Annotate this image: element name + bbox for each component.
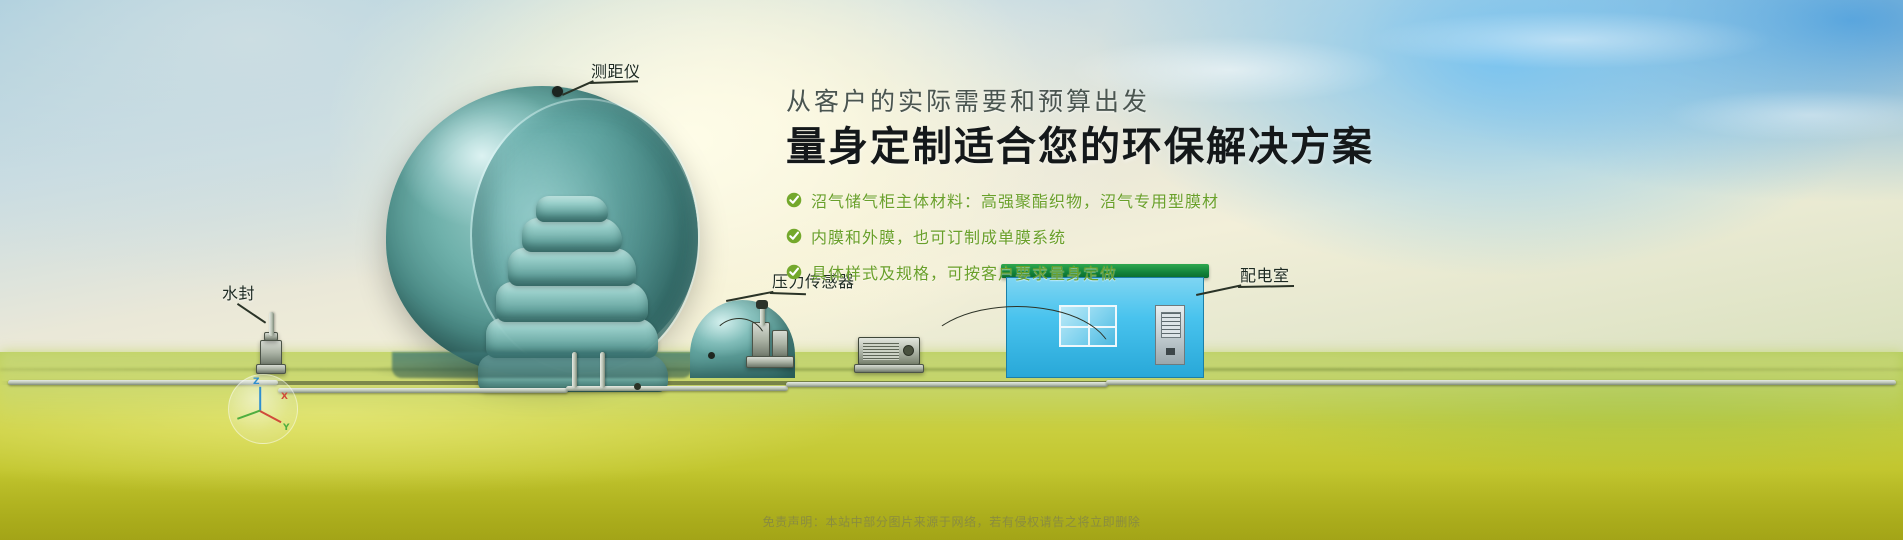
biogas-dome — [386, 86, 698, 376]
pipe-riser — [572, 352, 577, 388]
water-seal-riser — [269, 312, 274, 336]
membrane-tier — [508, 248, 636, 286]
sensor-riser — [760, 306, 765, 326]
list-item: 沼气储气柜主体材料：高强聚酯织物，沼气专用型膜材 — [786, 188, 1526, 212]
compressor-base — [854, 364, 924, 373]
main-pipe — [786, 382, 1108, 387]
membrane-tier — [522, 218, 622, 252]
main-pipe — [278, 388, 568, 393]
axis-label-z: Z — [253, 377, 260, 387]
compressor-unit — [858, 337, 920, 365]
cable-node — [708, 352, 715, 359]
sensor-head — [756, 300, 768, 309]
hero-banner: 测距仪 水封 压力传感器 — [0, 0, 1903, 540]
check-circle-icon — [786, 264, 802, 280]
pressure-sensor-base — [746, 356, 794, 368]
panel-display — [1166, 348, 1175, 355]
compressor-knob — [903, 345, 914, 356]
label-rangefinder: 测距仪 — [591, 58, 641, 82]
axis-x — [260, 410, 282, 423]
pressure-sensor-unit — [772, 330, 788, 358]
panel-grille — [1161, 312, 1181, 338]
rangefinder-device — [552, 86, 563, 97]
list-item: 具体样式及规格，可按客户要求量身定做 — [786, 260, 1526, 284]
check-circle-icon — [786, 192, 802, 208]
list-item-label: 具体样式及规格，可按客户要求量身定做 — [811, 260, 1117, 284]
main-pipe — [1106, 380, 1896, 385]
list-item-label: 内膜和外膜，也可订制成单膜系统 — [811, 224, 1066, 248]
pipe-riser — [600, 352, 605, 388]
membrane-tier — [496, 282, 648, 322]
list-item-label: 沼气储气柜主体材料：高强聚酯织物，沼气专用型膜材 — [811, 188, 1219, 212]
water-seal-unit — [260, 340, 282, 366]
dome-base-ring — [392, 352, 692, 378]
control-panel — [1155, 305, 1185, 365]
pipe-joint — [634, 383, 641, 390]
check-circle-icon — [786, 228, 802, 244]
hero-text-block: 从客户的实际需要和预算出发 量身定制适合您的环保解决方案 沼气储气柜主体材料：高… — [786, 82, 1526, 296]
axis-y — [237, 410, 260, 420]
label-water-seal: 水封 — [222, 280, 255, 304]
feature-list: 沼气储气柜主体材料：高强聚酯织物，沼气专用型膜材 内膜和外膜，也可订制成单膜系统 — [786, 188, 1526, 284]
axis-label-y: Y — [283, 423, 290, 433]
membrane-tier — [536, 196, 608, 222]
hero-subhead: 从客户的实际需要和预算出发 — [786, 82, 1526, 118]
water-seal-base — [256, 364, 286, 374]
compressor-vent — [863, 343, 899, 360]
axis-label-x: X — [281, 392, 288, 402]
list-item: 内膜和外膜，也可订制成单膜系统 — [786, 224, 1526, 248]
disclaimer-text: 免责声明：本站中部分图片来源于网络，若有侵权请告之将立即删除 — [0, 513, 1903, 530]
main-pipe — [566, 386, 788, 391]
axis-z — [259, 387, 261, 411]
axis-gizmo: Z X Y — [228, 374, 298, 444]
hero-headline: 量身定制适合您的环保解决方案 — [786, 125, 1526, 170]
